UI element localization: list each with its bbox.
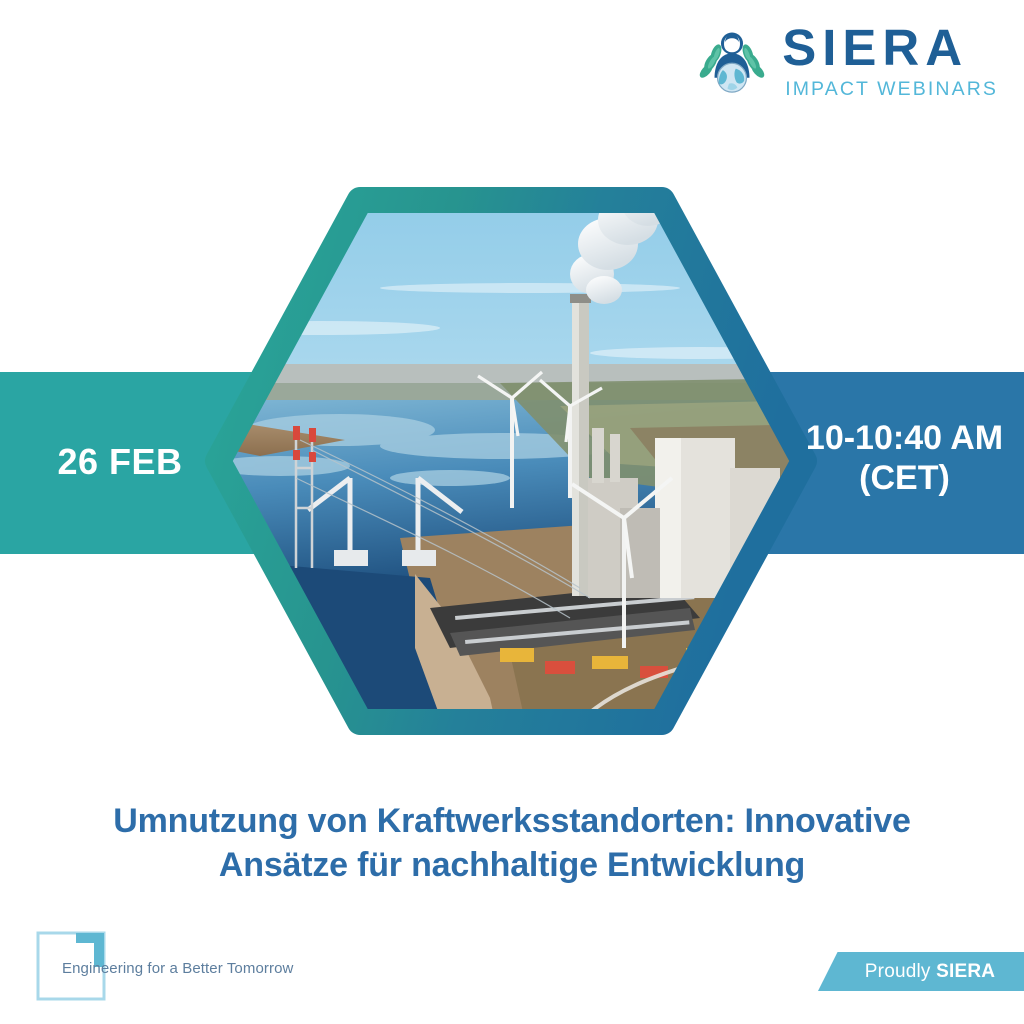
event-date: 26 FEB [0, 441, 240, 483]
hero-photo [200, 178, 822, 744]
promo-canvas: SIERA IMPACT WEBINARS [0, 0, 1024, 1024]
event-time: 10-10:40 AM (CET) [789, 418, 1024, 498]
webinar-title-line1: Umnutzung von Kraftwerksstandorten: Inno… [113, 802, 910, 840]
event-time-line1: 10-10:40 AM [806, 419, 1003, 457]
brand-title: SIERA [782, 22, 998, 73]
proudly-badge-text: Proudly SIERA [865, 961, 995, 983]
webinar-title: Umnutzung von Kraftwerksstandorten: Inno… [62, 800, 962, 887]
woman-globe-leaves-icon [694, 23, 770, 99]
footer-tagline: Engineering for a Better Tomorrow [62, 960, 293, 977]
proudly-brand: SIERA [936, 961, 995, 982]
proudly-prefix: Proudly [865, 961, 936, 982]
brand-wordmark: SIERA IMPACT WEBINARS [782, 22, 998, 100]
hero-hexagon [200, 178, 822, 744]
webinar-title-line2: Ansätze für nachhaltige Entwicklung [219, 846, 805, 884]
proudly-badge: Proudly SIERA [818, 952, 1024, 991]
brand-logo: SIERA IMPACT WEBINARS [694, 22, 998, 100]
event-time-line2: (CET) [789, 458, 1020, 498]
brand-subtitle: IMPACT WEBINARS [785, 80, 998, 100]
